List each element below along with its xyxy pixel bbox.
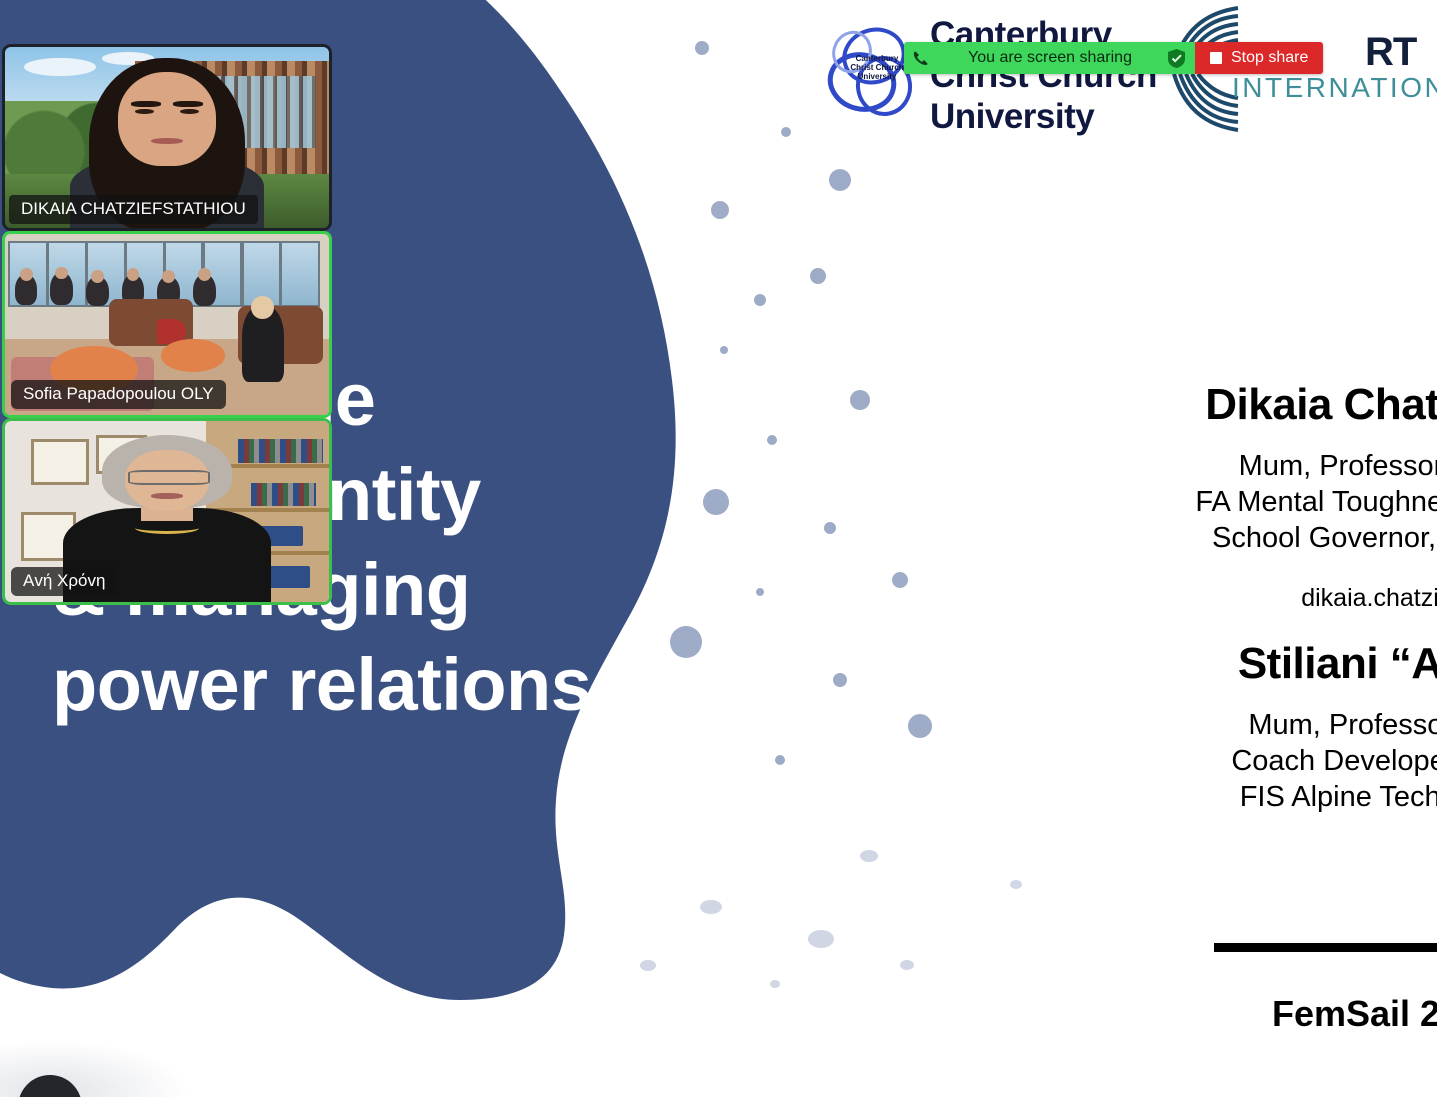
stop-square-icon (1210, 52, 1222, 64)
video-tile-sofia[interactable]: Sofia Papadopoulou OLY (2, 231, 332, 418)
shield-check-icon[interactable] (1168, 49, 1185, 68)
stop-share-label: Stop share (1231, 49, 1308, 67)
sharing-status-label: You are screen sharing (938, 49, 1158, 67)
speaker-role-line: Mum, Professor, M (1070, 707, 1437, 743)
screen-share-banner[interactable]: You are screen sharing Stop share (904, 42, 1323, 74)
participant-name-label: Αvή Χρόvη (11, 567, 117, 596)
screen-share-stage: ...ting the ...ng identity & managing po… (0, 0, 1437, 1097)
phone-icon (912, 50, 928, 66)
spatter-dot (900, 960, 914, 970)
video-tile-ani[interactable]: Αvή Χρόvη (2, 418, 332, 605)
speaker-role-line: FA Mental Toughness on th (1070, 484, 1437, 520)
sport-wordmark: RT (1365, 30, 1416, 75)
speaker-role-line: FIS Alpine Technical (1070, 779, 1437, 815)
speaker-email: dikaia.chatzi (1070, 584, 1437, 613)
university-crest-text: Canterbury Christ Church University (844, 54, 910, 81)
speaker-name: Dikaia Chatziefs (1070, 380, 1437, 430)
spatter-dot (1010, 880, 1022, 889)
spatter-dot (770, 980, 780, 988)
spatter-dot (860, 850, 878, 862)
university-wordmark: Canterbury Christ Church University (930, 14, 1157, 137)
spatter-dot (640, 960, 656, 971)
video-tile-dikaia[interactable]: DIKAIA CHATZIEFSTATHIOU (2, 44, 332, 231)
university-name-line: University (930, 96, 1157, 137)
speaker-role-line: Mum, Professor, Oly (1070, 448, 1437, 484)
speaker-role-line: School Governor, Dance (1070, 520, 1437, 556)
sharing-status-pill[interactable]: You are screen sharing (904, 42, 1195, 74)
spatter-dot (700, 900, 722, 914)
spatter-dot (808, 930, 834, 948)
speaker-name: Stiliani “Ani” (1070, 639, 1437, 689)
speaker-roles: Mum, Professor, M Coach Developer, Ge FI… (1070, 707, 1437, 815)
participant-filmstrip[interactable]: DIKAIA CHATZIEFSTATHIOU (2, 44, 332, 605)
slide-title-line: power relations (52, 637, 782, 732)
divider-rule (1214, 943, 1437, 952)
slide-footer: FemSail 20 (1272, 993, 1437, 1035)
participant-name-label: Sofia Papadopoulou OLY (11, 380, 226, 409)
speaker-bios: Dikaia Chatziefs Mum, Professor, Oly FA … (1070, 380, 1437, 815)
speaker-roles: Mum, Professor, Oly FA Mental Toughness … (1070, 448, 1437, 556)
stop-share-button[interactable]: Stop share (1195, 42, 1323, 74)
participant-name-label: DIKAIA CHATZIEFSTATHIOU (9, 195, 258, 224)
speaker-role-line: Coach Developer, Ge (1070, 743, 1437, 779)
sport-subtitle: INTERNATIONAL (1232, 72, 1437, 104)
